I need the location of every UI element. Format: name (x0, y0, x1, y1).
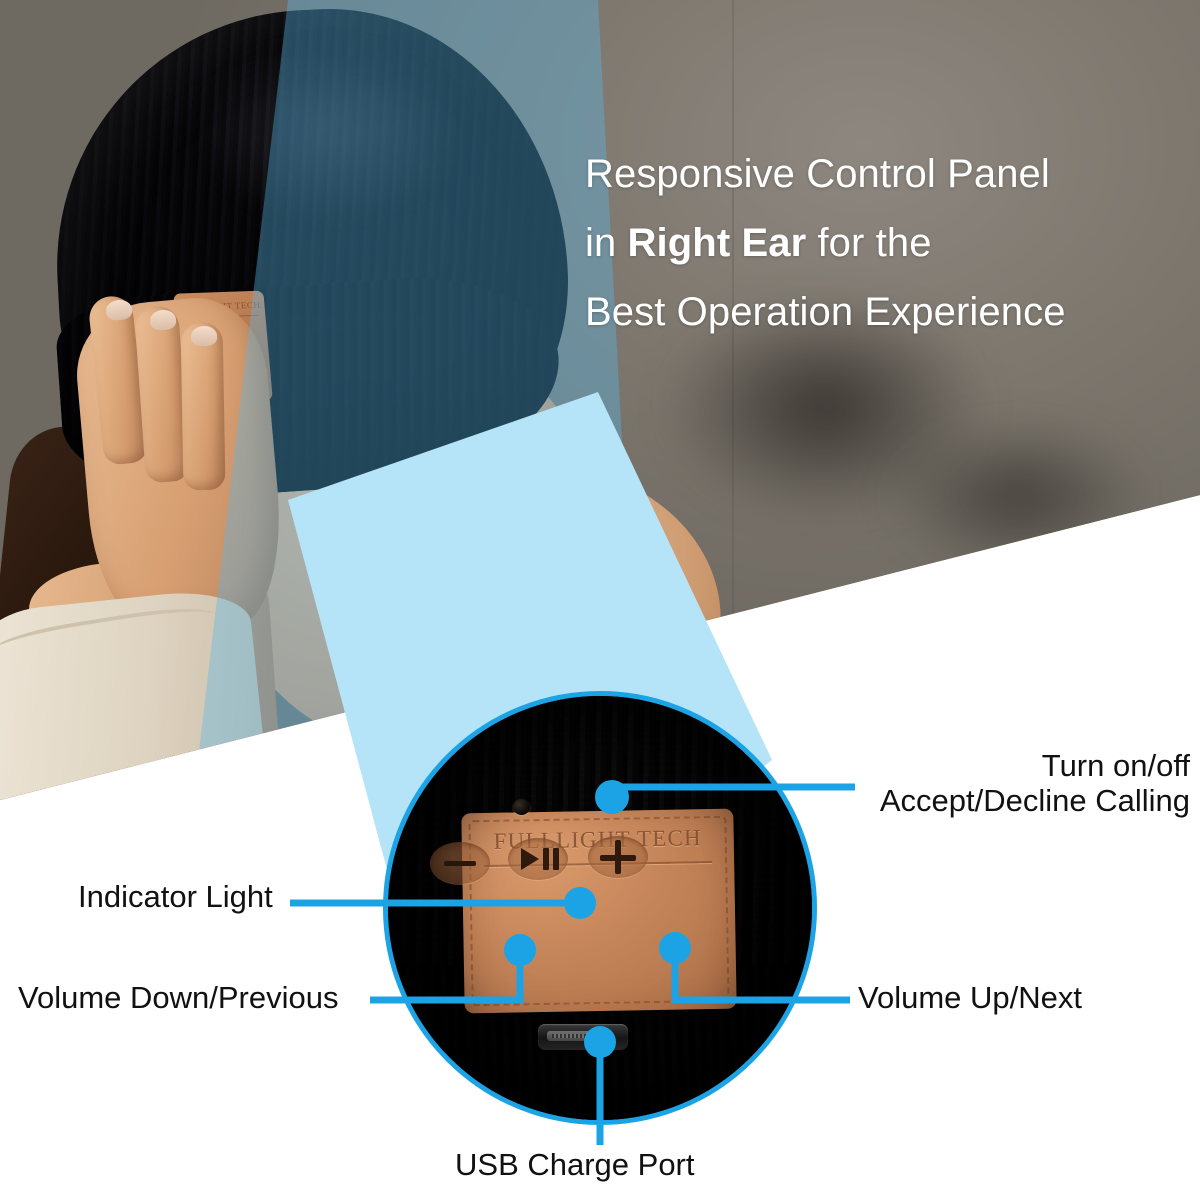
callout-volume-up: Volume Up/Next (858, 981, 1082, 1016)
product-feature-infographic: FULLLIGHT TECH Responsive Control Panel … (0, 0, 1200, 1200)
headline-line-2: in Right Ear for the (585, 209, 1190, 278)
callout-turn-on-off-line-2: Accept/Decline Calling (880, 783, 1190, 818)
callout-volume-down: Volume Down/Previous (18, 981, 339, 1016)
callout-turn-on-off: Turn on/off Accept/Decline Calling (880, 748, 1190, 819)
model-nail-middle (149, 309, 176, 331)
headline-line-2-post: for the (806, 221, 931, 265)
headline-line-1: Responsive Control Panel (585, 140, 1190, 209)
callout-turn-on-off-line-1: Turn on/off (880, 748, 1190, 783)
callout-usb-charge-port: USB Charge Port (455, 1148, 695, 1183)
headline-line-2-pre: in (585, 221, 628, 265)
headline-line-3: Best Operation Experience (585, 278, 1190, 347)
background-blur-dark-secondary (888, 421, 1148, 571)
lifestyle-photo: FULLLIGHT TECH (0, 0, 1200, 810)
model-nail-ring (191, 326, 217, 346)
headline: Responsive Control Panel in Right Ear fo… (585, 140, 1190, 346)
circle-inner-shadow (388, 696, 812, 1120)
callout-indicator-light: Indicator Light (78, 880, 273, 915)
magnified-control-panel: FULLLIGHT TECH (383, 691, 817, 1125)
model-finger-ring (181, 322, 226, 491)
headline-line-2-emphasis: Right Ear (628, 221, 807, 265)
